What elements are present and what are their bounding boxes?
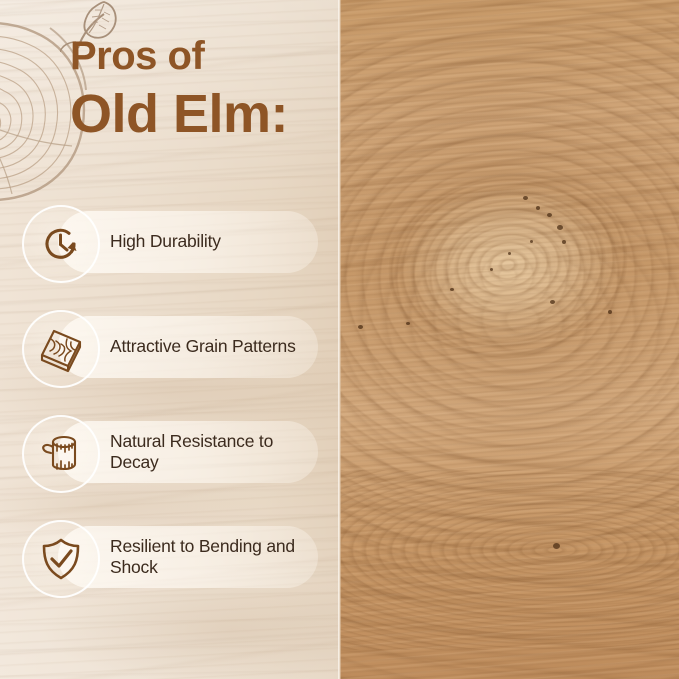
wood-speck xyxy=(547,213,552,217)
title-line-2: Old Elm: xyxy=(70,86,288,143)
panel-divider xyxy=(338,0,341,679)
wood-speck xyxy=(536,206,540,210)
feature-icon-circle xyxy=(22,310,100,388)
wood-ring-texture-outer xyxy=(340,0,679,679)
wood-lower-knot xyxy=(340,470,679,650)
wood-speck xyxy=(557,225,563,230)
feature-icon-circle xyxy=(22,205,100,283)
feature-row[interactable]: Natural Resistance to Decay xyxy=(0,415,340,489)
wood-speck xyxy=(358,325,363,329)
clock-history-icon xyxy=(38,221,84,267)
wood-grain-bands-top xyxy=(340,0,679,270)
pros-of-old-elm-infographic: Pros of Old Elm: High Durability xyxy=(0,0,679,679)
wood-speck xyxy=(550,300,555,304)
feature-icon-circle xyxy=(22,415,100,493)
title-line-1: Pros of xyxy=(70,36,288,76)
elm-wood-photo-panel xyxy=(340,0,679,679)
feature-row[interactable]: Resilient to Bending and Shock xyxy=(0,520,340,594)
feature-row[interactable]: High Durability xyxy=(0,205,340,279)
wood-speck xyxy=(508,252,511,255)
feature-label: Attractive Grain Patterns xyxy=(110,336,296,357)
wood-speck xyxy=(608,310,612,314)
feature-label: Resilient to Bending and Shock xyxy=(110,536,308,579)
wood-fiber-texture xyxy=(340,0,679,679)
wood-speck xyxy=(450,288,454,291)
shield-check-icon xyxy=(39,536,83,582)
wood-grain-bands-bottom xyxy=(340,449,679,679)
feature-label: High Durability xyxy=(110,231,221,252)
wood-speck xyxy=(523,196,528,200)
wood-speck xyxy=(530,240,533,243)
feature-label: Natural Resistance to Decay xyxy=(110,431,308,474)
feature-row[interactable]: Attractive Grain Patterns xyxy=(0,310,340,384)
feature-icon-circle xyxy=(22,520,100,598)
wood-speck xyxy=(562,240,566,244)
wood-speck xyxy=(553,543,560,549)
left-info-panel: Pros of Old Elm: High Durability xyxy=(0,0,340,679)
wood-plank-icon xyxy=(37,325,85,373)
wood-burl-knot xyxy=(376,154,640,376)
wood-ring-texture xyxy=(340,10,679,610)
wood-speck xyxy=(406,322,410,325)
wood-speck xyxy=(490,268,493,271)
title-block: Pros of Old Elm: xyxy=(70,36,288,143)
feature-list: High Durability Attractive Grain Pattern… xyxy=(0,205,340,625)
log-stump-icon xyxy=(38,431,84,477)
